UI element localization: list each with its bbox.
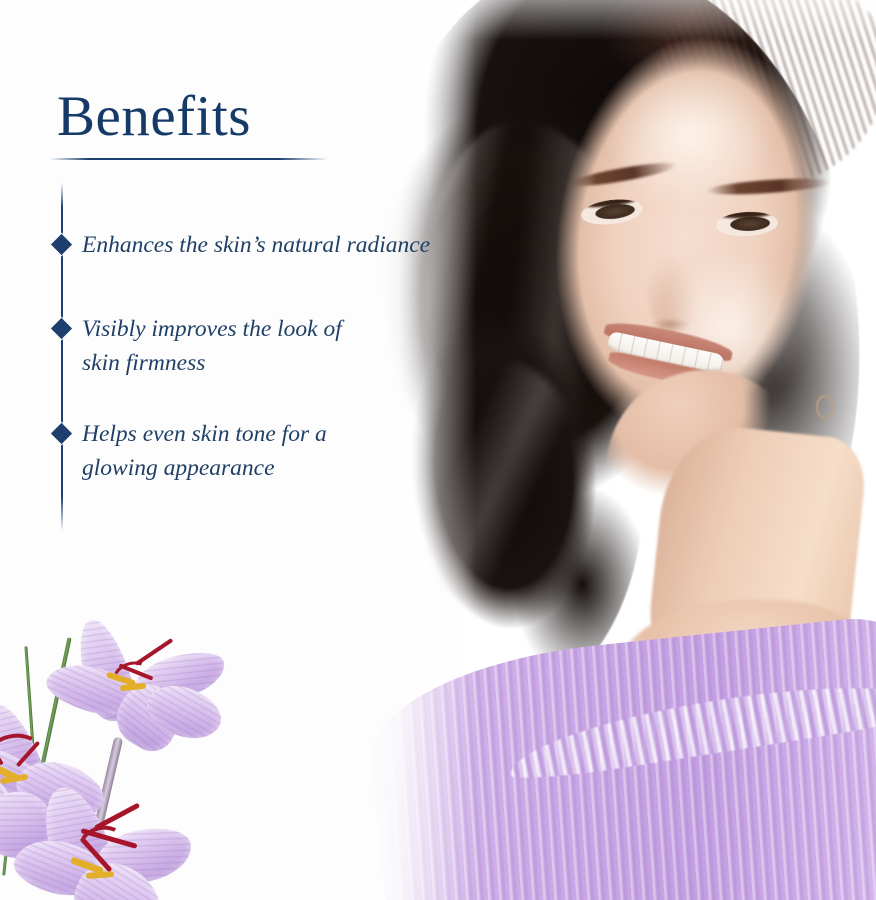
list-item: Helps even skin tone for a glowing appea…	[44, 417, 484, 485]
earring	[816, 395, 834, 419]
list-item: Visibly improves the look of skin firmne…	[44, 312, 484, 380]
diamond-bullet-icon	[51, 234, 72, 255]
benefits-list: Enhances the skin’s natural radiance Vis…	[0, 0, 520, 620]
benefit-text: Helps even skin tone for a glowing appea…	[82, 417, 484, 485]
saffron-flower	[20, 796, 200, 900]
diamond-bullet-icon	[51, 318, 72, 339]
benefits-panel: Benefits Enhances the skin’s natural rad…	[0, 0, 520, 620]
saffron-flowers	[0, 606, 290, 900]
list-item: Enhances the skin’s natural radiance	[44, 228, 484, 262]
benefit-text: Visibly improves the look of skin firmne…	[82, 312, 484, 380]
diamond-bullet-icon	[51, 423, 72, 444]
promo-benefits-page: Benefits Enhances the skin’s natural rad…	[0, 0, 876, 900]
benefit-text: Enhances the skin’s natural radiance	[82, 228, 484, 262]
